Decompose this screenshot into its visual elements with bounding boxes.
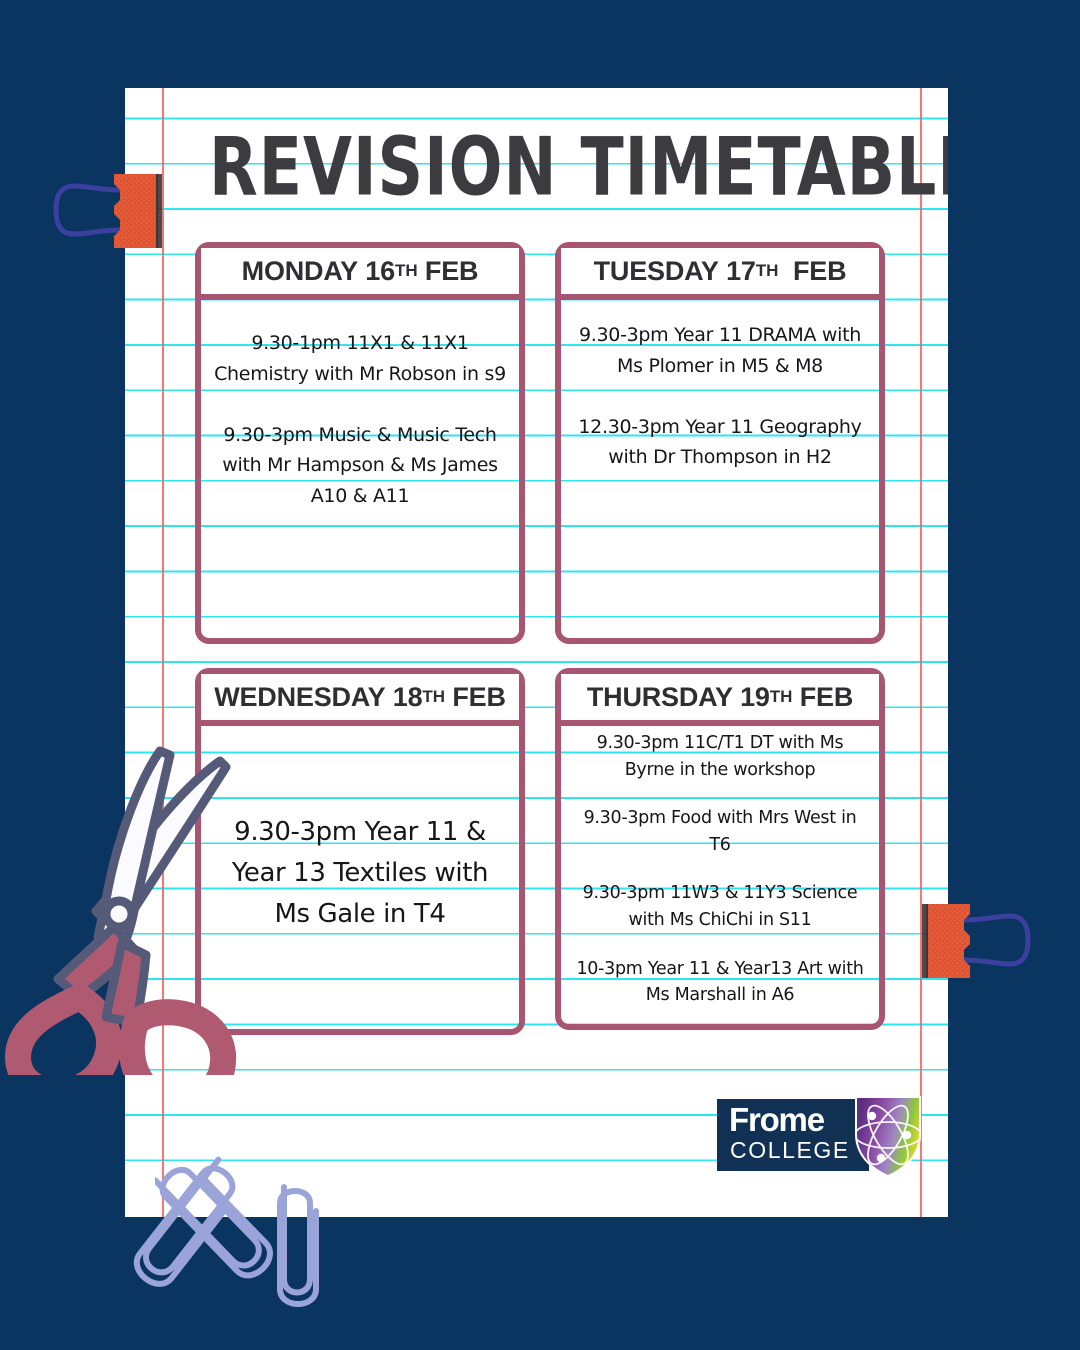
day-month-label: FEB [800, 682, 853, 713]
day-card-wednesday: WEDNESDAY 18TH FEB 9.30-3pm Year 11 & Ye… [195, 668, 525, 1035]
page-title: REVISION TIMETABLE [209, 120, 881, 214]
paperclip-icon [262, 1175, 332, 1325]
day-month-label: FEB [425, 256, 478, 287]
day-card-body-thursday: 9.30-3pm 11C/T1 DT with Ms Byrne in the … [561, 726, 879, 1043]
timetable-entry: 9.30-3pm Music & Music Tech with Mr Hamp… [211, 420, 509, 512]
scissors-icon [0, 735, 238, 1075]
day-card-header-wednesday: WEDNESDAY 18TH FEB [201, 674, 519, 726]
timetable-entry: 9.30-3pm 11W3 & 11Y3 Science with Ms Chi… [571, 880, 869, 933]
day-card-header-tuesday: TUESDAY 17TH FEB [561, 248, 879, 300]
day-card-header-monday: MONDAY 16TH FEB [201, 248, 519, 300]
day-card-thursday: THURSDAY 19TH FEB 9.30-3pm 11C/T1 DT wit… [555, 668, 885, 1030]
day-number-label: 19 [740, 682, 770, 713]
day-number-label: 17 [726, 256, 756, 287]
timetable-entry: 9.30-3pm Year 11 DRAMA with Ms Plomer in… [571, 320, 869, 382]
timetable-entry: 9.30-3pm Food with Mrs West in T6 [571, 805, 869, 858]
binder-clip-icon [906, 890, 1036, 990]
day-number-label: 16 [365, 256, 395, 287]
day-weekday-label: THURSDAY [587, 682, 733, 713]
day-card-body-tuesday: 9.30-3pm Year 11 DRAMA with Ms Plomer in… [561, 300, 879, 485]
timetable-entry: 12.30-3pm Year 11 Geography with Dr Thom… [571, 412, 869, 474]
atom-shield-icon [851, 1091, 925, 1179]
paper-margin-line-right [920, 88, 922, 1217]
timetable-entry: 9.30-1pm 11X1 & 11X1 Chemistry with Mr R… [211, 328, 509, 390]
day-month-label: FEB [452, 682, 505, 713]
binder-clip-icon [48, 160, 178, 260]
day-card-body-wednesday: 9.30-3pm Year 11 & Year 13 Textiles with… [201, 726, 519, 947]
day-month-label: FEB [793, 256, 846, 287]
logo-name-secondary: COLLEGE [730, 1139, 850, 1162]
day-weekday-label: WEDNESDAY [214, 682, 385, 713]
day-card-monday: MONDAY 16TH FEB 9.30-1pm 11X1 & 11X1 Che… [195, 242, 525, 644]
timetable-entry: 9.30-3pm Year 11 & Year 13 Textiles with… [211, 812, 509, 935]
day-card-body-monday: 9.30-1pm 11X1 & 11X1 Chemistry with Mr R… [201, 300, 519, 524]
timetable-entry: 10-3pm Year 11 & Year13 Art with Ms Mars… [571, 956, 869, 1009]
lined-paper-sheet: REVISION TIMETABLE MONDAY 16TH FEB 9.30-… [125, 88, 948, 1217]
timetable-entry: 9.30-3pm 11C/T1 DT with Ms Byrne in the … [571, 730, 869, 783]
day-number-label: 18 [393, 682, 423, 713]
frome-college-logo: Frome COLLEGE [717, 1091, 925, 1179]
day-weekday-label: MONDAY [242, 256, 358, 287]
day-card-tuesday: TUESDAY 17TH FEB 9.30-3pm Year 11 DRAMA … [555, 242, 885, 644]
day-weekday-label: TUESDAY [594, 256, 719, 287]
logo-name-primary: Frome [729, 1103, 824, 1136]
day-card-header-thursday: THURSDAY 19TH FEB [561, 674, 879, 726]
